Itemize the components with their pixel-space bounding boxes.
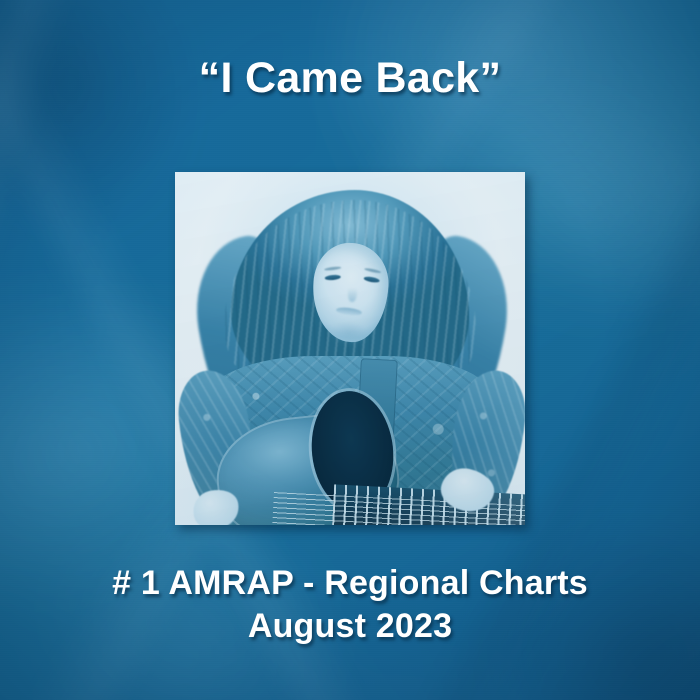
caption-line-chart: # 1 AMRAP - Regional Charts	[112, 564, 588, 602]
album-artwork-frame	[175, 172, 525, 525]
caption-line-date: August 2023	[0, 605, 700, 648]
nose	[347, 286, 357, 302]
mouth	[336, 306, 362, 316]
eyebrow-left	[324, 265, 342, 270]
eye-right	[363, 275, 379, 283]
poster-title: “I Came Back”	[0, 55, 700, 101]
poster-caption: # 1 AMRAP - Regional Charts August 2023	[0, 562, 700, 648]
eyebrow-right	[364, 267, 382, 274]
chin-shadow	[329, 321, 371, 345]
album-artwork-photo	[175, 172, 525, 525]
album-promo-poster: “I Came Back”	[0, 0, 700, 700]
eye-left	[325, 274, 341, 280]
